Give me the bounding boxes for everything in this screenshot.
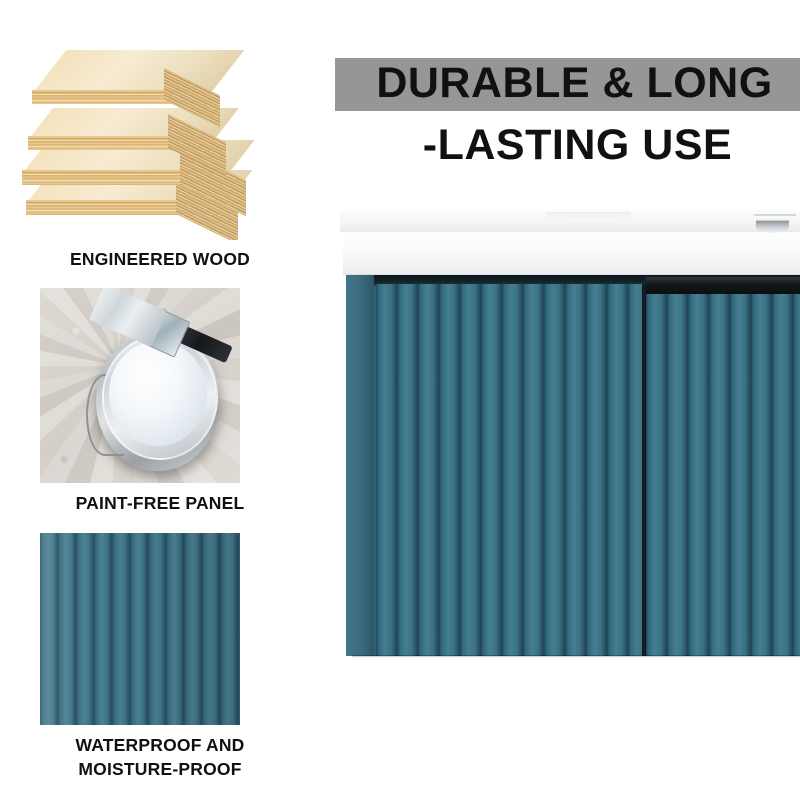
white-paint-surface [109,341,207,446]
feature-caption-engineered-wood: ENGINEERED WOOD [20,248,300,272]
feature-waterproof: WATERPROOF AND MOISTURE-PROOF [20,533,300,781]
feature-engineered-wood: ENGINEERED WOOD [20,28,300,272]
drawer-handle-bar [646,277,800,294]
headline: DURABLE & LONG -LASTING USE [335,58,800,168]
headline-band: DURABLE & LONG [335,58,800,111]
feature-caption-waterproof-line-1: WATERPROOF AND [20,734,300,758]
vanity-product-image [340,208,800,730]
faucet-seam [754,214,796,216]
feature-paint-free-panel: PAINT-FREE PANEL [20,288,300,516]
fluted-panel-swatch [40,533,240,725]
countertop-surface [340,208,800,232]
headline-line-2: -LASTING USE [335,123,800,168]
cabinet-side-panel [346,274,374,656]
cabinet-bottom-shadow [352,655,800,658]
drawer-front-right [646,284,800,656]
plywood-stack-image [20,28,300,240]
paint-can-image [40,288,240,483]
fluted-sheen-overlay [40,533,240,725]
product-feature-infographic: DURABLE & LONG -LASTING USE [0,0,800,800]
feature-caption-waterproof-line-2: MOISTURE-PROOF [20,758,300,782]
vanity-cabinet [346,274,800,656]
drawer-front-left [376,284,642,656]
headline-line-1: DURABLE & LONG [335,62,800,105]
plywood-stack-illustration [20,28,300,240]
plywood-sheet-top [32,50,240,110]
feature-caption-paint-free-panel: PAINT-FREE PANEL [20,492,300,516]
sink-basin [547,212,632,221]
faucet-hole-icon [756,221,789,233]
countertop-front-face [343,230,800,275]
